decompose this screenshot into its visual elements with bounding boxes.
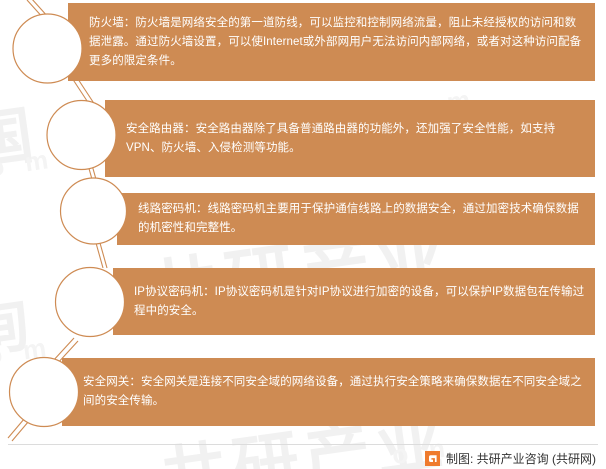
item-text: 防火墙：防火墙是网络安全的第一道防线，可以监控和控制网络流量，阻止未经授权的访问… xyxy=(89,14,585,71)
footer-credit-text: 制图: 共研产业咨询 (共研网) xyxy=(446,450,596,467)
item-bar[interactable]: IP协议密码机：IP协议密码机是针对IP协议进行加密的设备，可以保护IP数据包在… xyxy=(113,268,595,335)
item-bar[interactable]: 安全路由器：安全路由器除了具备普通路由器的功能外，还加强了安全性能，如支持VPN… xyxy=(105,100,595,177)
item-bar[interactable]: 线路密码机：线路密码机主要用于保护通信线路上的数据安全，通过加密技术确保数据的机… xyxy=(117,193,595,245)
item-text: IP协议密码机：IP协议密码机是针对IP协议进行加密的设备，可以保护IP数据包在… xyxy=(134,283,585,321)
item-bar[interactable]: 安全网关：安全网关是连接不同安全域的网络设备，通过执行安全策略来确保数据在不同安… xyxy=(62,358,595,426)
footer-credit: 制图: 共研产业咨询 (共研网) xyxy=(425,450,596,467)
item-text: 安全路由器：安全路由器除了具备普通路由器的功能外，还加强了安全性能，如支持VPN… xyxy=(126,120,585,158)
items-list: 防火墙：防火墙是网络安全的第一道防线，可以监控和控制网络流量，阻止未经授权的访问… xyxy=(0,0,606,469)
footer-divider xyxy=(8,444,598,445)
item-text: 线路密码机：线路密码机主要用于保护通信线路上的数据安全，通过加密技术确保数据的机… xyxy=(138,200,585,238)
gongyan-logo-icon xyxy=(425,451,440,466)
item-text: 安全网关：安全网关是连接不同安全域的网络设备，通过执行安全策略来确保数据在不同安… xyxy=(83,373,585,411)
infographic-root: 国 共研产业 询 共研产业 o m o m o m o m o n 防火墙：防火… xyxy=(0,0,606,469)
item-bar[interactable]: 防火墙：防火墙是网络安全的第一道防线，可以监控和控制网络流量，阻止未经授权的访问… xyxy=(68,3,595,81)
